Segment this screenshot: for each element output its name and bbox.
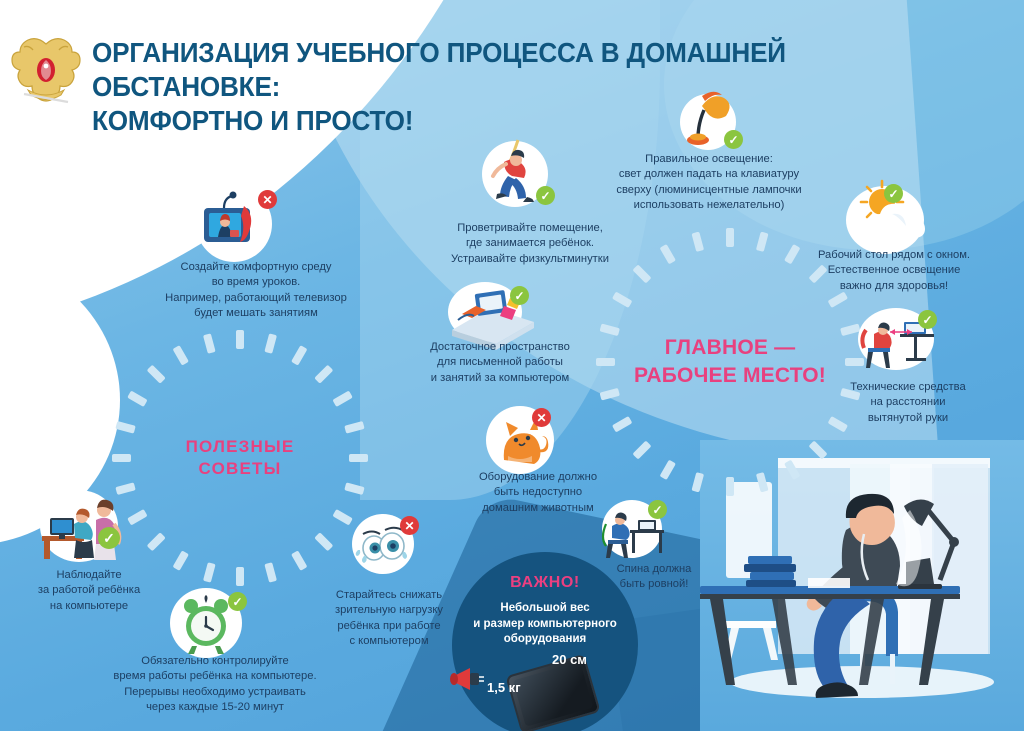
page-title: ОРГАНИЗАЦИЯ УЧЕБНОГО ПРОЦЕССА В ДОМАШНЕЙ…	[92, 36, 881, 138]
ring-tick	[726, 477, 734, 496]
russian-coat-of-arms	[18, 36, 74, 110]
header: ОРГАНИЗАЦИЯ УЧЕБНОГО ПРОЦЕССА В ДОМАШНЕЙ…	[0, 0, 1024, 140]
item-eyes-badge-no: ✕	[400, 516, 419, 535]
item-supervise-caption: Наблюдайте за работой ребёнка на компьют…	[6, 568, 172, 614]
ring-useful-tips: ПОЛЕЗНЫЕ СОВЕТЫ	[112, 330, 368, 586]
item-time-caption: Обязательно контролируйте время работы р…	[106, 654, 324, 716]
ring-tick	[726, 228, 734, 247]
ring-tips-line-1: ПОЛЕЗНЫЕ	[186, 436, 295, 458]
parent-supervising-icon	[28, 484, 138, 568]
tablet-weight-label: 1,5 кг	[487, 680, 521, 695]
item-eyes-caption: Старайтесь снижать зрительную нагрузку р…	[306, 588, 472, 650]
ring-main-line-1: ГЛАВНОЕ —	[665, 334, 796, 362]
item-supervise-badge-ok: ✓	[98, 527, 120, 549]
item-stretch-caption: Проветривайте помещение, где занимается …	[430, 221, 630, 267]
item-time-badge-ok: ✓	[228, 592, 247, 611]
item-tv-caption: Создайте комфортную среду во время уроко…	[150, 260, 362, 322]
item-desk-space-caption: Достаточное пространство для письменной …	[400, 340, 600, 386]
important-body: Небольшой вес и размер компьютерного обо…	[452, 601, 638, 648]
item-pets-badge-no: ✕	[532, 408, 551, 427]
item-arm-distance-caption: Технические средства на расстоянии вытян…	[828, 380, 988, 426]
item-window-caption: Рабочий стол рядом с окном. Естественное…	[790, 248, 998, 294]
item-lamp-badge-ok: ✓	[724, 130, 743, 149]
tablet-width-label: 20 см	[552, 652, 587, 667]
ring-tips-line-2: СОВЕТЫ	[199, 458, 282, 480]
item-arm-distance-badge-ok: ✓	[918, 310, 937, 329]
ring-tick	[349, 454, 368, 462]
ring-tick	[112, 454, 131, 462]
item-stretch-badge-ok: ✓	[536, 186, 555, 205]
item-posture-badge-ok: ✓	[648, 500, 667, 519]
ring-main-line-2: РАБОЧЕЕ МЕСТО!	[634, 362, 826, 390]
megaphone-icon	[448, 664, 488, 694]
item-lamp-caption: Правильное освещение: свет должен падать…	[586, 152, 832, 214]
item-tv-badge-no: ✕	[258, 190, 277, 209]
infographic-poster: ОРГАНИЗАЦИЯ УЧЕБНОГО ПРОЦЕССА В ДОМАШНЕЙ…	[0, 0, 1024, 731]
item-window-badge-ok: ✓	[884, 184, 903, 203]
ring-tick	[236, 330, 244, 349]
important-title: ВАЖНО!	[452, 574, 638, 592]
item-desk-space-badge-ok: ✓	[510, 286, 529, 305]
